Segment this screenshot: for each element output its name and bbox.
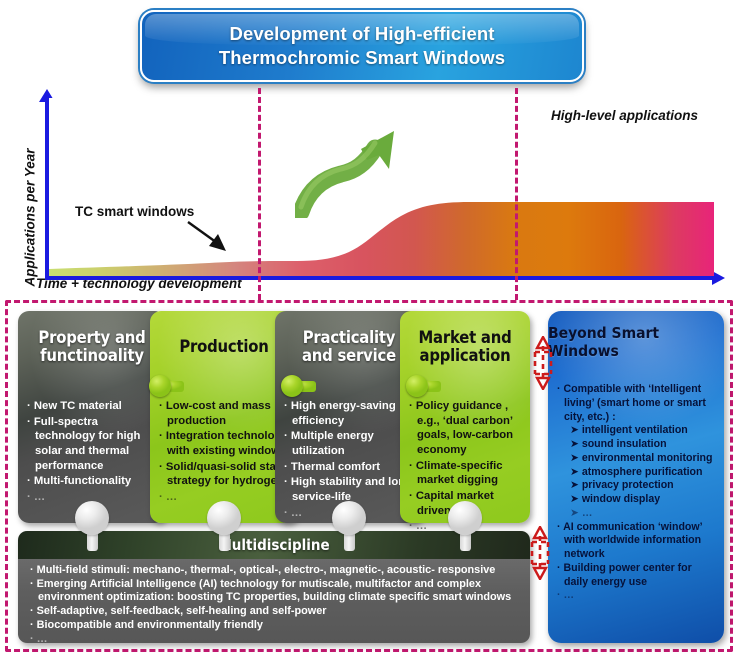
puzzle-knob-icon	[406, 375, 440, 397]
list-item: · Low-cost and mass production	[159, 399, 289, 428]
link-arrow-bottom-icon	[528, 526, 552, 585]
link-arrow-top-icon	[531, 336, 555, 395]
puzzle-knob-icon	[281, 375, 315, 397]
title-banner: Development of High-efficient Thermochro…	[140, 10, 584, 82]
high-level-applications-label: High-level applications	[551, 108, 698, 123]
tc-smart-windows-label: TC smart windows	[75, 204, 194, 219]
beyond-title: Beyond Smart Windows	[548, 324, 724, 360]
x-axis-line	[45, 276, 714, 280]
beyond-header: Beyond Smart Windows	[548, 311, 724, 373]
list-item: ➤ atmosphere purification	[557, 466, 715, 480]
list-item: · Solid/quasi-solid state strategy for h…	[159, 460, 289, 489]
card-title: Practicality and service	[285, 329, 413, 366]
y-axis-label: Applications per Year	[23, 143, 38, 293]
connector-pin-icon	[332, 501, 366, 549]
card-title: Property and functinoality	[28, 329, 156, 366]
list-item: ➤ intelligent ventilation	[557, 424, 715, 438]
connector-pin-icon	[448, 501, 482, 549]
list-item: ➤ window display	[557, 493, 715, 507]
beyond-smart-windows-panel[interactable]: Beyond Smart Windows · Compatible with ‘…	[548, 311, 724, 643]
list-item: · High energy-saving efficiency	[284, 399, 414, 428]
puzzle-knob-icon	[149, 375, 183, 397]
list-item: · …	[557, 589, 715, 603]
list-item: · Full-spectra technology for high solar…	[27, 415, 157, 474]
card-header: Property and functinoality	[18, 311, 166, 383]
card-title: Production	[179, 338, 268, 356]
connector-pin-icon	[207, 501, 241, 549]
list-item: · Multi-field stimuli: mechano-, thermal…	[30, 564, 518, 578]
chart-area: Applications per Year Time + technology …	[0, 88, 738, 300]
list-item: · Emerging Artificial Intelligence (AI) …	[30, 578, 518, 605]
multidiscipline-body: · Multi-field stimuli: mechano-, thermal…	[18, 559, 530, 643]
list-item: · Integration technology with existing w…	[159, 429, 289, 458]
timeline-divider-right	[515, 88, 518, 300]
page-title: Development of High-efficient Thermochro…	[142, 22, 582, 71]
list-item: · Self-adaptive, self-feedback, self-hea…	[30, 605, 518, 619]
list-item: · New TC material	[27, 399, 157, 414]
card-market-and-application[interactable]: Market and application · Policy guidance…	[400, 311, 530, 523]
list-item: · Building power center for daily energy…	[557, 562, 715, 590]
list-item: · Multi-functionality	[27, 474, 157, 489]
list-item: · Multiple energy utilization	[284, 429, 414, 458]
card-header: Market and application	[400, 311, 530, 383]
list-item: ➤ sound insulation	[557, 438, 715, 452]
tc-pointer-arrow-icon	[186, 220, 232, 259]
list-item: ➤ environmental monitoring	[557, 452, 715, 466]
list-item: · Policy guidance , e.g., ‘dual carbon’ …	[409, 399, 521, 458]
list-item: · Thermal comfort	[284, 460, 414, 475]
card-title: Market and application	[410, 329, 520, 366]
card-property-and-functionality[interactable]: Property and functinoality · New TC mate…	[18, 311, 166, 523]
beyond-body: · Compatible with ‘Intelligent living’ (…	[548, 373, 724, 603]
timeline-divider-left	[258, 88, 261, 300]
list-item: · Compatible with ‘Intelligent living’ (…	[557, 383, 715, 424]
list-item: · …	[30, 633, 518, 643]
card-body: · New TC material · Full-spectra technol…	[18, 383, 166, 505]
list-item: · Biocompatible and environmentally frie…	[30, 619, 518, 633]
growth-arrow-icon	[295, 126, 405, 223]
list-item: · AI communication ‘window’ with worldwi…	[557, 521, 715, 562]
list-item: ➤ privacy protection	[557, 479, 715, 493]
list-item: · Climate-specific market digging	[409, 459, 521, 488]
list-item: ➤ …	[557, 507, 715, 521]
connector-pin-icon	[75, 501, 109, 549]
